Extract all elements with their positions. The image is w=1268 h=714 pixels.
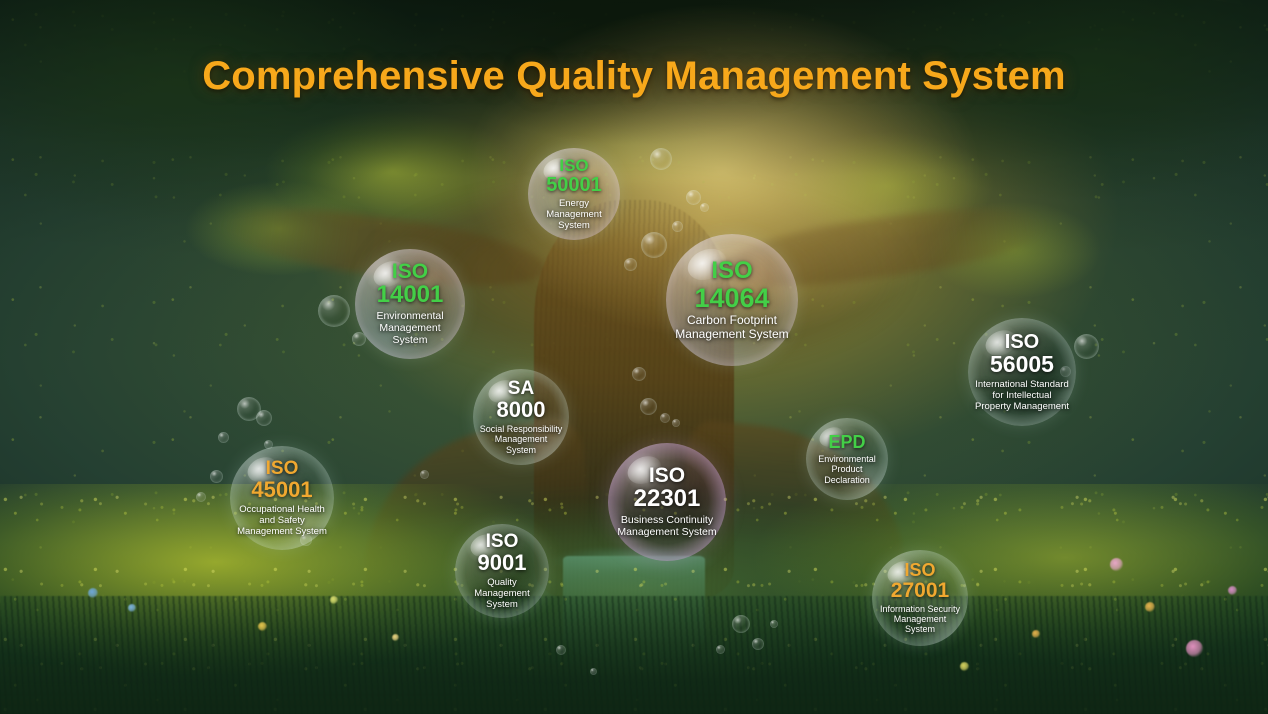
certification-bubble-iso-56005[interactable]: ISO56005International Standard for Intel… <box>968 318 1076 426</box>
bubble-description: Business Continuity Management System <box>608 514 726 538</box>
bubble-description: Quality Management System <box>455 577 549 610</box>
bubble-code-primary: ISO <box>1005 332 1039 353</box>
certification-bubble-iso-9001[interactable]: ISO9001Quality Management System <box>455 524 549 618</box>
certification-bubble-epd[interactable]: EPDEnvironmental Product Declaration <box>806 418 888 500</box>
bubble-code-primary: ISO <box>392 261 428 283</box>
bubble-description: Occupational Health and Safety Managemen… <box>230 504 334 537</box>
bubble-description: International Standard for Intellectual … <box>968 379 1076 412</box>
certification-bubble-sa-8000[interactable]: SA8000Social Responsibility Management S… <box>473 369 569 465</box>
bubble-code-primary: ISO <box>559 157 588 175</box>
bubble-code-primary: ISO <box>711 259 752 284</box>
certification-bubble-iso-14064[interactable]: ISO14064Carbon Footprint Management Syst… <box>666 234 798 366</box>
bubble-code-primary: ISO <box>649 465 685 487</box>
bubble-description: Environmental Product Declaration <box>806 454 888 485</box>
bubble-description: Energy Management System <box>528 198 620 231</box>
certification-bubble-iso-14001[interactable]: ISO14001Environmental Management System <box>355 249 465 359</box>
certification-bubble-iso-45001[interactable]: ISO45001Occupational Health and Safety M… <box>230 446 334 550</box>
certification-bubble-iso-27001[interactable]: ISO27001Information Security Management … <box>872 550 968 646</box>
ambient-bubble <box>256 410 272 426</box>
ambient-bubble <box>1074 334 1099 359</box>
certification-bubble-iso-22301[interactable]: ISO22301Business Continuity Management S… <box>608 443 726 561</box>
bubble-code-number: 56005 <box>990 353 1054 377</box>
bubble-code-primary: EPD <box>828 433 865 452</box>
bubble-code-primary: SA <box>508 379 534 399</box>
page-title: Comprehensive Quality Management System <box>0 54 1268 99</box>
ambient-bubble <box>218 432 229 443</box>
bubble-code-primary: ISO <box>486 532 519 552</box>
bubble-code-number: 22301 <box>634 487 701 512</box>
bubble-description: Environmental Management System <box>355 310 465 347</box>
infographic-canvas: Comprehensive Quality Management System … <box>0 0 1268 714</box>
ambient-bubble <box>210 470 223 483</box>
ambient-bubble <box>237 397 261 421</box>
bubble-code-number: 9001 <box>478 552 527 575</box>
bubble-description: Information Security Management System <box>872 604 968 635</box>
bubble-code-number: 14001 <box>377 283 444 308</box>
bubble-code-number: 14064 <box>694 284 769 312</box>
bubble-code-number: 45001 <box>251 479 312 502</box>
bubble-code-number: 50001 <box>546 175 602 196</box>
certification-bubble-iso-50001[interactable]: ISO50001Energy Management System <box>528 148 620 240</box>
foreground-grass <box>0 596 1268 714</box>
bubble-code-primary: ISO <box>266 459 299 479</box>
bubble-code-primary: ISO <box>904 561 935 580</box>
bubble-code-number: 27001 <box>891 580 949 602</box>
bubble-description: Carbon Footprint Management System <box>666 314 798 342</box>
bubble-code-number: 8000 <box>497 399 546 422</box>
bubble-description: Social Responsibility Management System <box>473 424 569 455</box>
